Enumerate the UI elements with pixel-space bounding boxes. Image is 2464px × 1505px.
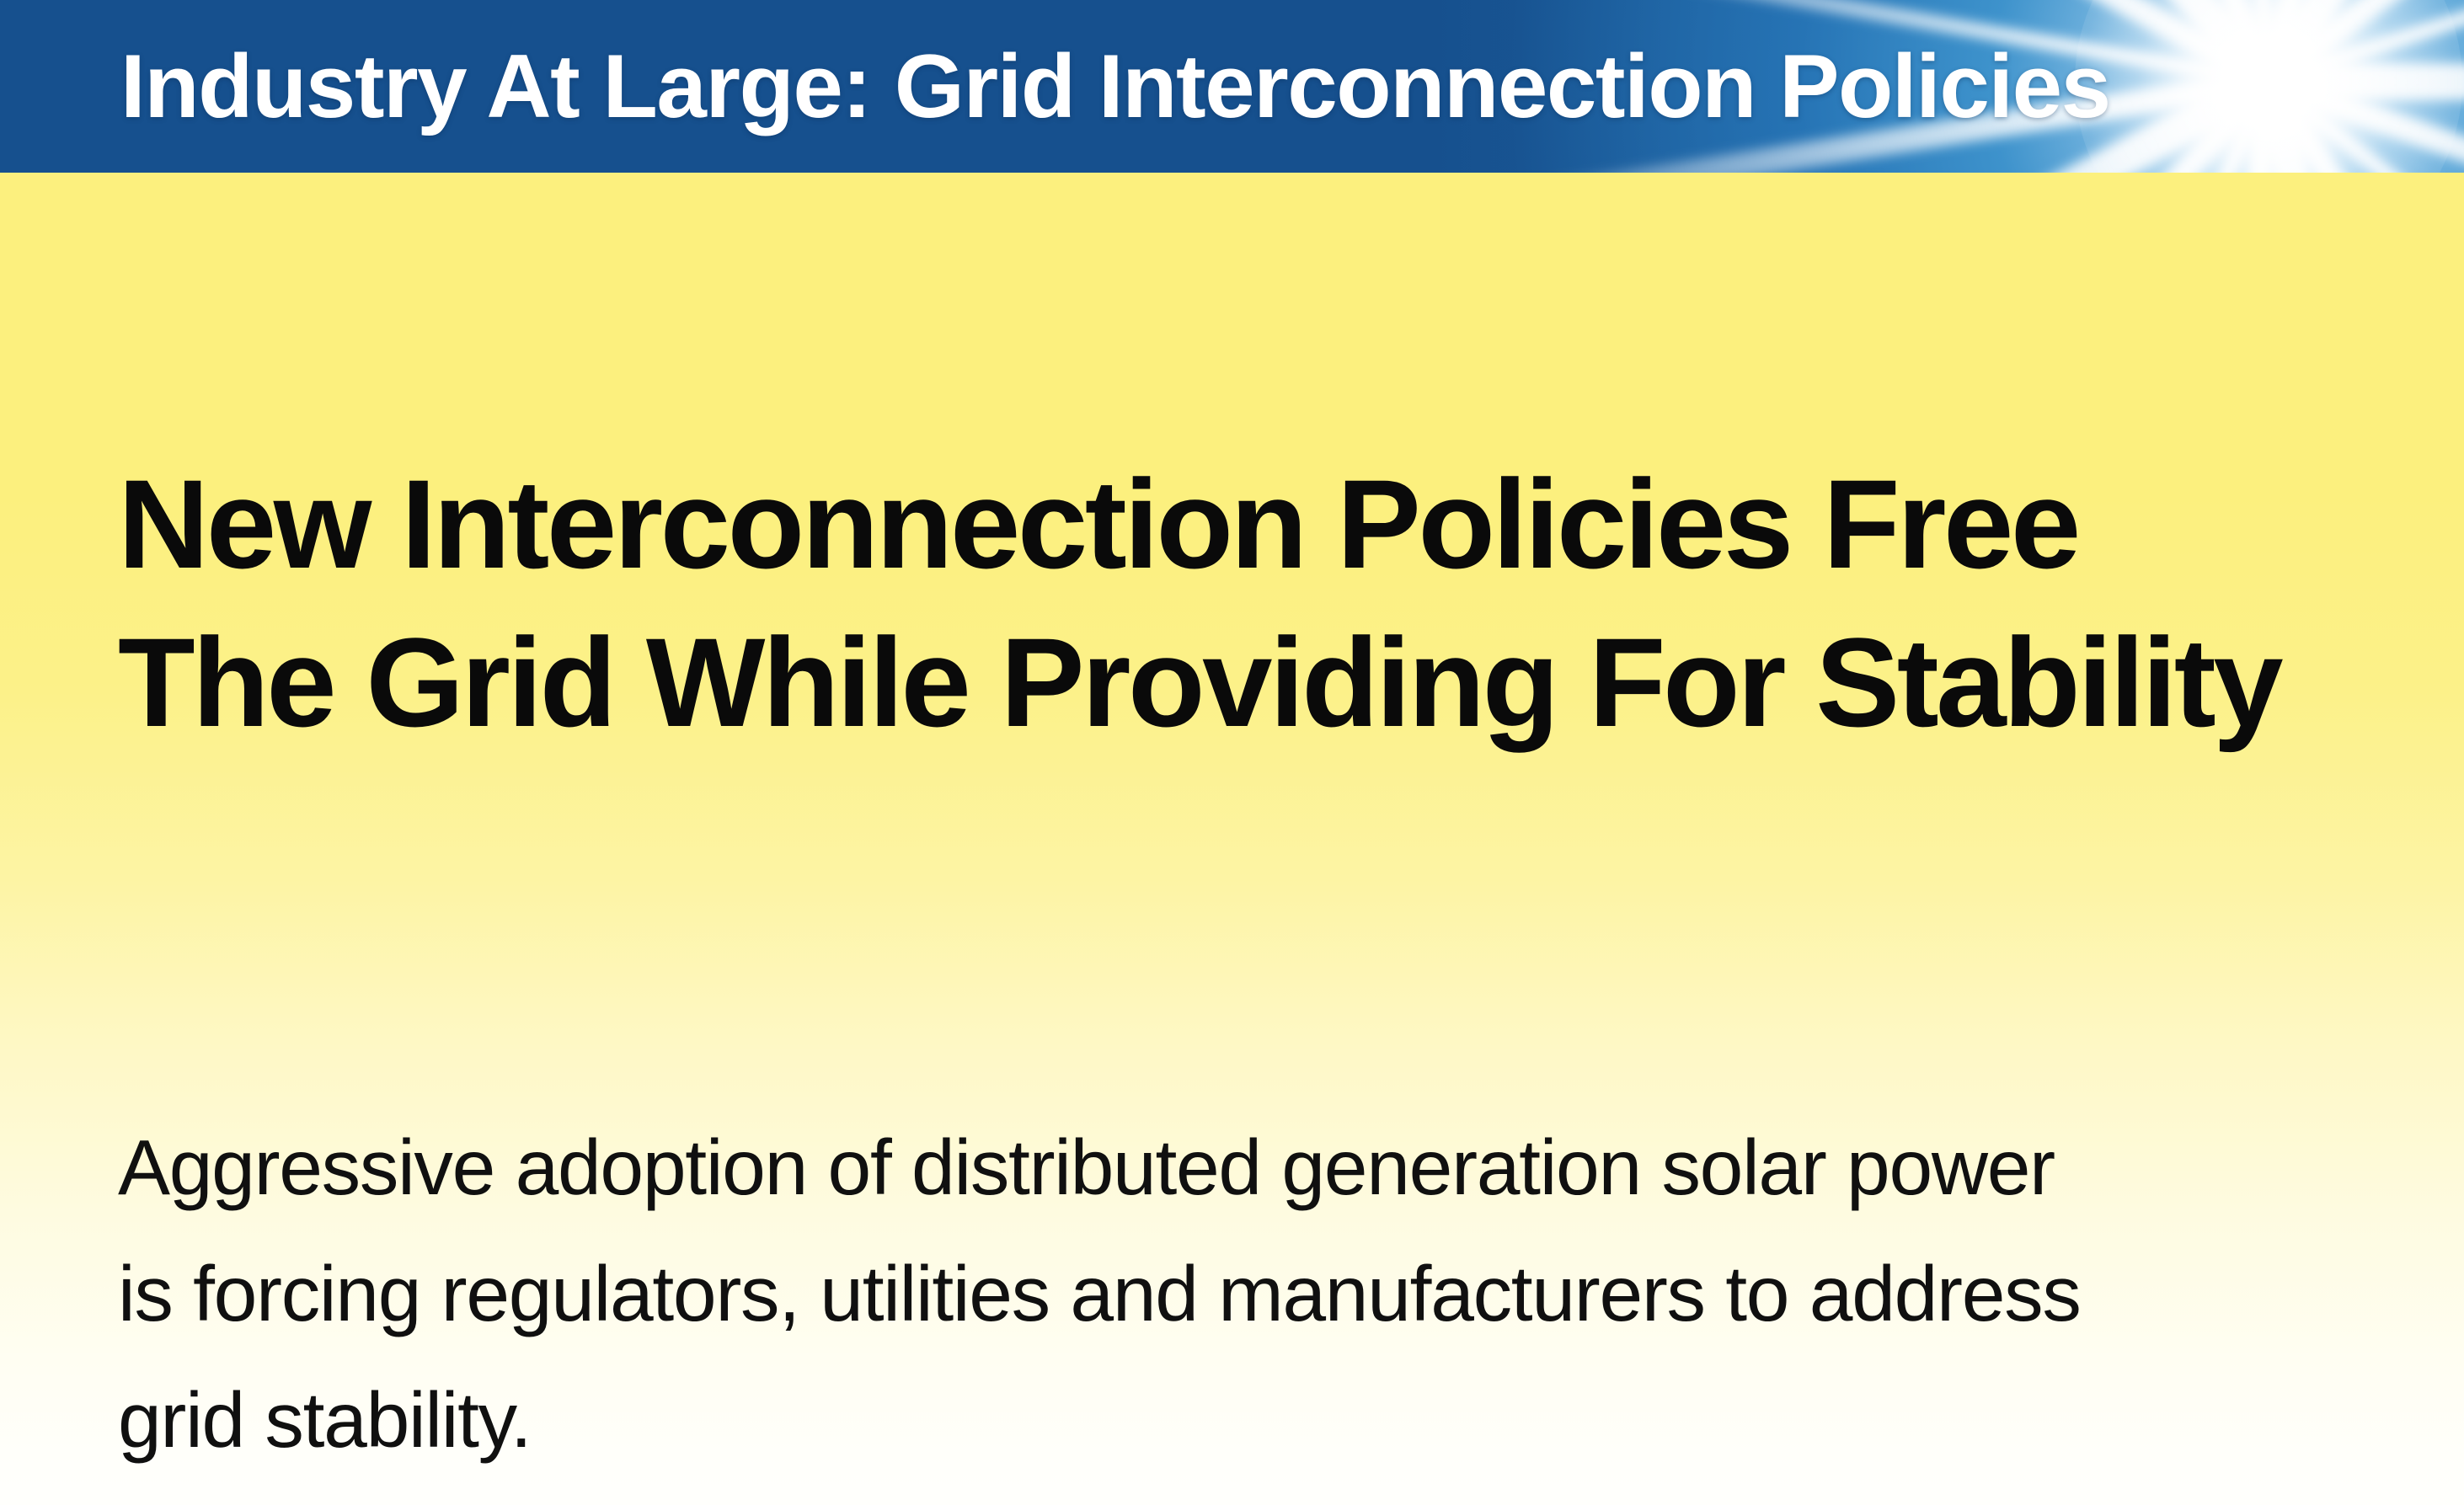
content-panel: New Interconnection Policies Free The Gr…: [0, 173, 2464, 1505]
section-kicker: Industry At Large: Grid Interconnection …: [120, 0, 2110, 173]
article-header-card: Industry At Large: Grid Interconnection …: [0, 0, 2464, 1505]
deck-text: Aggressive adoption of distributed gener…: [118, 1123, 2081, 1464]
headline-text: New Interconnection Policies Free The Gr…: [118, 453, 2280, 753]
banner: Industry At Large: Grid Interconnection …: [0, 0, 2464, 173]
article-deck: Aggressive adoption of distributed gener…: [118, 1104, 2106, 1483]
page-title: New Interconnection Policies Free The Gr…: [118, 445, 2325, 761]
